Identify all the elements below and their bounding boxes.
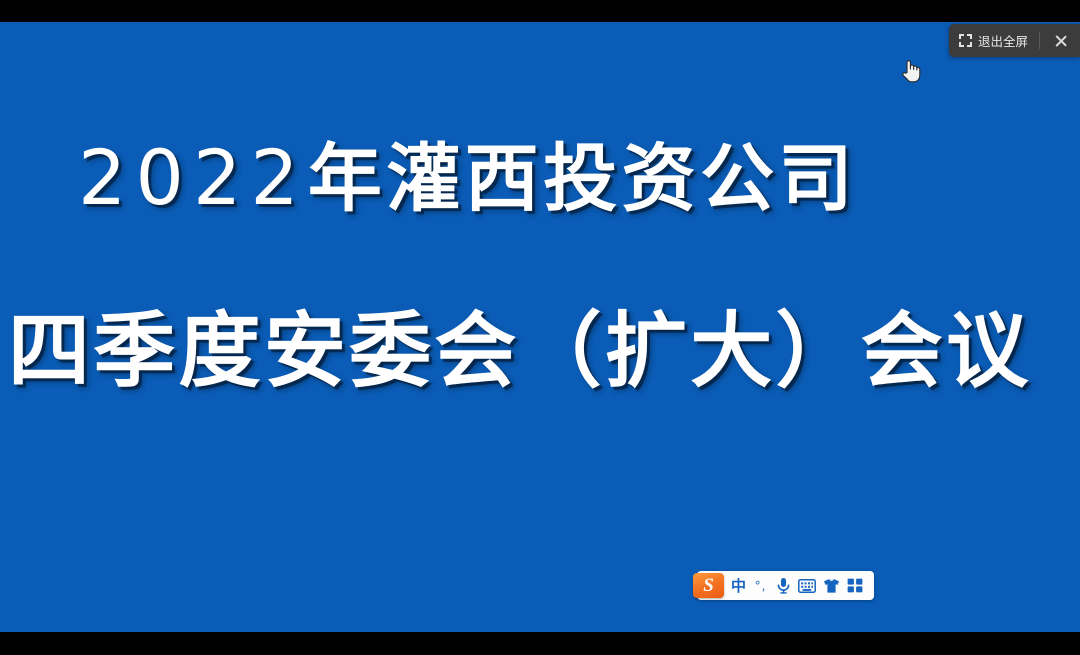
skin-icon[interactable] (819, 571, 843, 600)
fullscreen-control-bar: 退出全屏 (949, 24, 1080, 57)
slide-title-line-1-text: 年灌西投资公司 (308, 139, 857, 221)
exit-fullscreen-button[interactable]: 退出全屏 (959, 24, 1037, 57)
letterbox-top (0, 0, 1080, 22)
slide-title-line-1: 2022年灌西投资公司 (78, 130, 857, 228)
fullscreen-exit-icon (959, 34, 972, 47)
punctuation-label: °, (755, 579, 767, 593)
sogou-logo-letter: S (703, 576, 714, 595)
input-mode-label: 中 (731, 575, 746, 596)
sogou-logo-icon[interactable]: S (693, 573, 724, 598)
toolbox-icon[interactable] (843, 571, 867, 600)
slide-title-line-2: 四季度安委会（扩大）会议 (8, 300, 1031, 404)
voice-input-icon[interactable] (771, 571, 795, 600)
soft-keyboard-icon[interactable] (795, 571, 819, 600)
screen: 2022年灌西投资公司 四季度安委会（扩大）会议 退出全屏 S 中 °, (0, 0, 1080, 655)
slide-title-year: 2022 (78, 133, 308, 222)
punctuation-toggle[interactable]: °, (750, 571, 771, 600)
slide-content: 2022年灌西投资公司 四季度安委会（扩大）会议 (0, 22, 1080, 632)
close-button[interactable] (1042, 24, 1080, 57)
sogou-ime-toolbar: S 中 °, (697, 571, 874, 600)
input-mode-toggle[interactable]: 中 (727, 571, 750, 600)
close-icon (1054, 34, 1068, 48)
letterbox-bottom (0, 632, 1080, 655)
exit-fullscreen-label: 退出全屏 (978, 31, 1028, 50)
toolbar-divider (1039, 32, 1040, 49)
presentation-slide: 2022年灌西投资公司 四季度安委会（扩大）会议 (0, 22, 1080, 632)
